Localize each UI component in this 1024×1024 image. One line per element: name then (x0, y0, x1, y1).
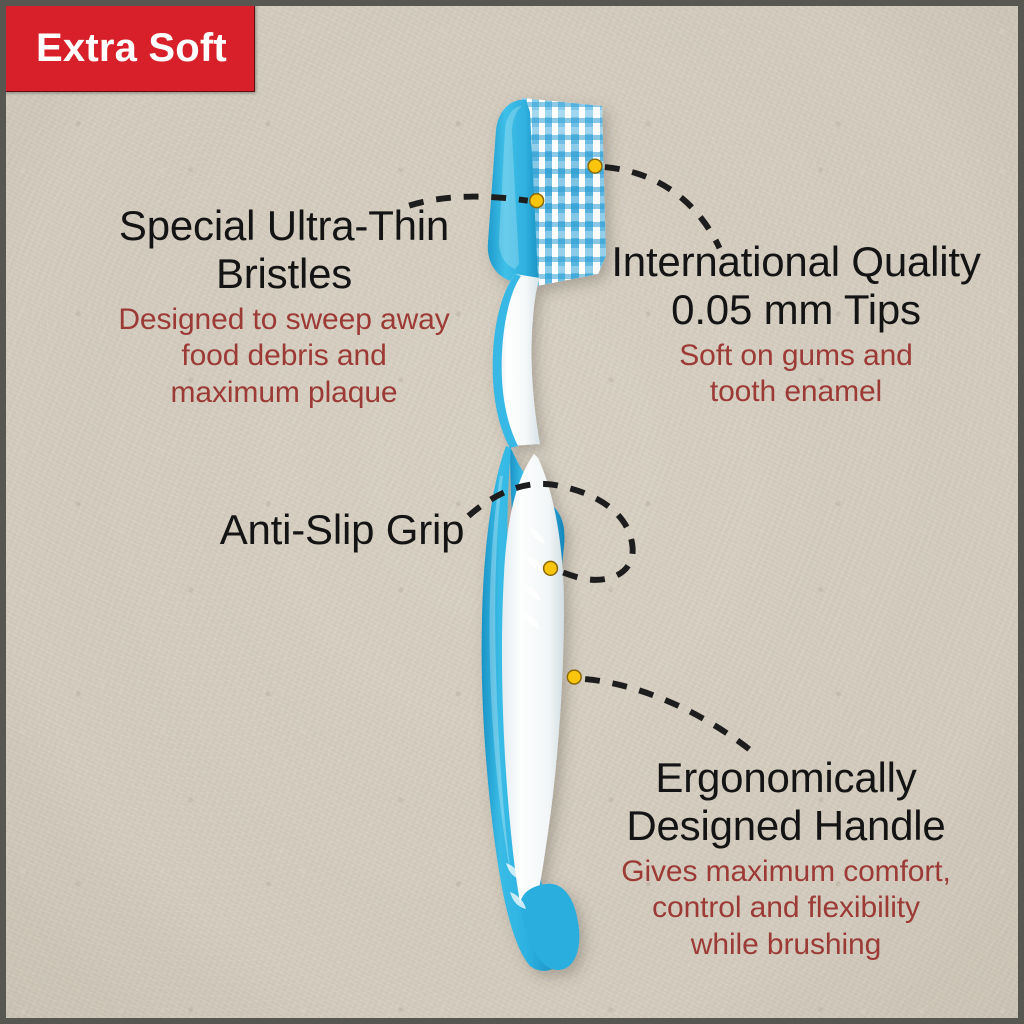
callout-handle-headline: Ergonomically Designed Handle (576, 754, 996, 850)
anti-slip-grip-ridges (523, 527, 545, 629)
marker-handle (567, 670, 581, 684)
callout-quality-subtext: Soft on gums and tooth enamel (594, 338, 998, 411)
handle-tail (520, 884, 579, 970)
marker-quality (588, 159, 602, 173)
infographic-poster: Extra Soft Special Ultra-Thin Bristles D… (0, 0, 1024, 1024)
extra-soft-badge-label: Extra Soft (32, 28, 227, 68)
marker-bristles (530, 194, 544, 208)
callout-bristles-headline: Special Ultra-Thin Bristles (84, 202, 484, 298)
callout-special-ultra-thin-bristles: Special Ultra-Thin Bristles Designed to … (84, 202, 484, 412)
brush-handle-white (502, 454, 564, 936)
callout-ergonomic-handle: Ergonomically Designed Handle Gives maxi… (576, 754, 996, 964)
brush-handle-blue (482, 446, 564, 971)
callout-handle-subtext: Gives maximum comfort, control and flexi… (576, 854, 996, 964)
callout-bristles-subtext: Designed to sweep away food debris and m… (84, 302, 484, 412)
callout-international-quality: International Quality 0.05 mm Tips Soft … (594, 238, 998, 411)
brush-head-back (488, 100, 538, 286)
callout-grip-headline: Anti-Slip Grip (202, 506, 482, 554)
extra-soft-badge: Extra Soft (4, 4, 255, 92)
anti-slip-grip-ridges-lower (506, 863, 526, 909)
leader-line-grip (469, 484, 633, 580)
callout-anti-slip-grip: Anti-Slip Grip (202, 506, 482, 554)
handle-upper-blue (510, 446, 564, 610)
brush-neck (494, 274, 540, 446)
marker-grip (544, 561, 558, 575)
leader-line-quality (605, 167, 720, 248)
callout-quality-headline: International Quality 0.05 mm Tips (594, 238, 998, 334)
leader-line-handle (585, 679, 749, 749)
